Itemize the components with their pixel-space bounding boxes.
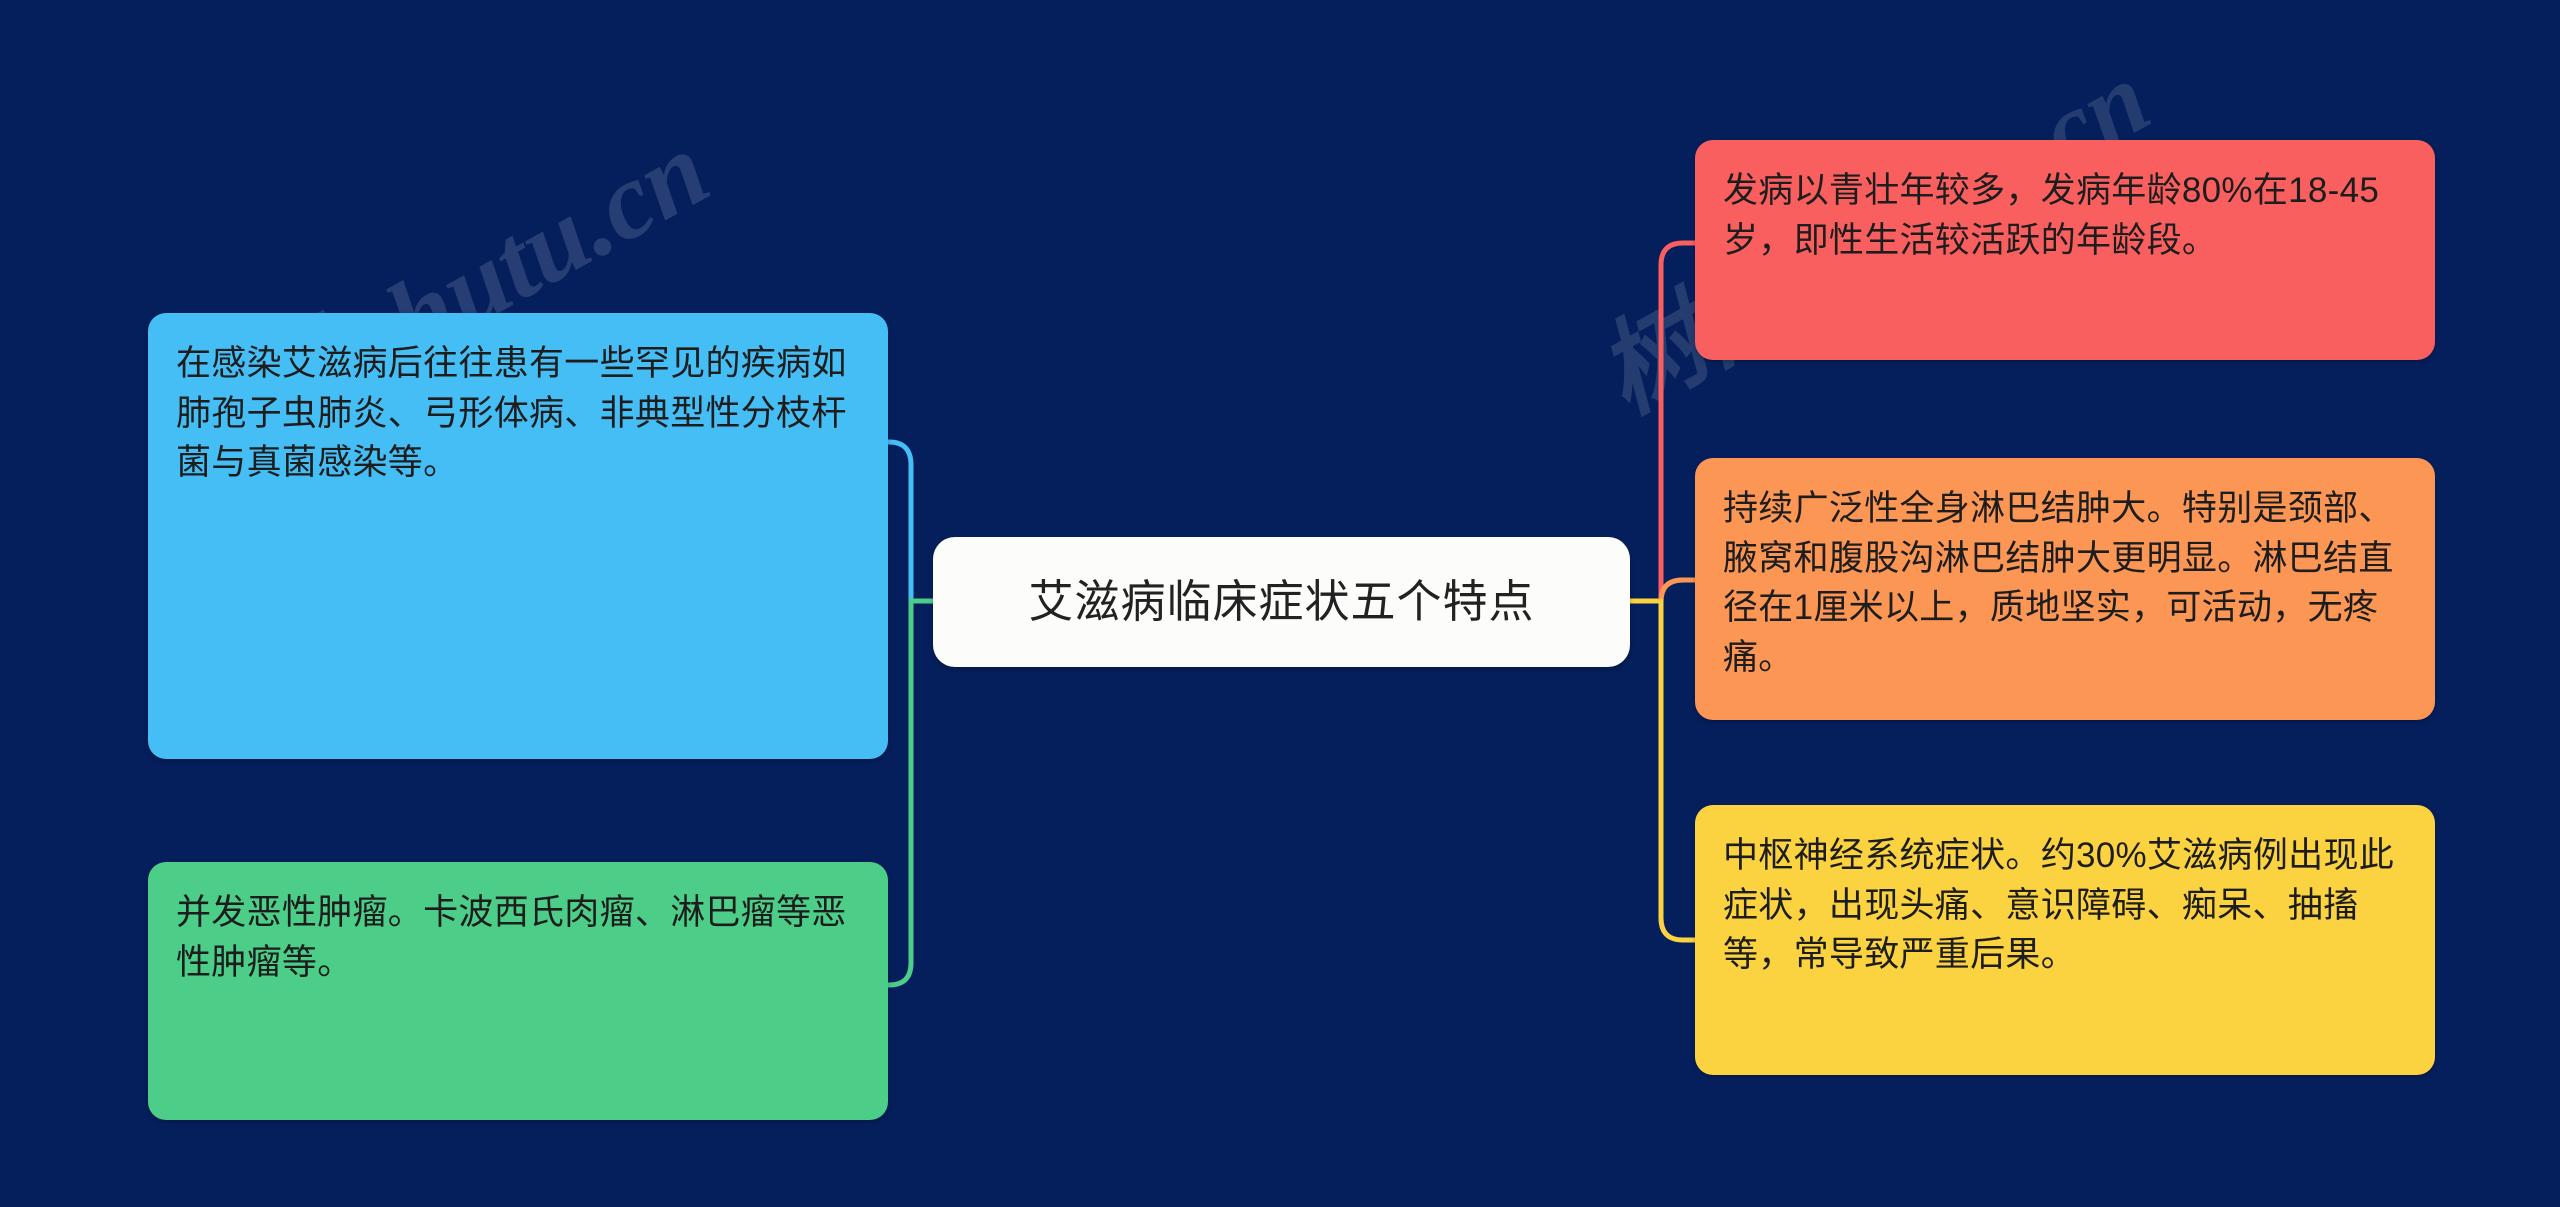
root-node[interactable]: 艾滋病临床症状五个特点 bbox=[933, 537, 1630, 667]
branch-node-yellow-label: 中枢神经系统症状。约30%艾滋病例出现此症状，出现头痛、意识障碍、痴呆、抽搐等，… bbox=[1723, 831, 2405, 980]
mindmap-canvas: 树图 shutu.cn 树图 shutu.cn 在感染艾滋病后往往患有一些罕见的… bbox=[0, 0, 2560, 1207]
branch-node-orange-label: 持续广泛性全身淋巴结肿大。特别是颈部、腋窝和腹股沟淋巴结肿大更明显。淋巴结直径在… bbox=[1723, 484, 2405, 683]
branch-node-green-label: 并发恶性肿瘤。卡波西氏肉瘤、淋巴瘤等恶性肿瘤等。 bbox=[176, 888, 858, 987]
branch-node-red-label: 发病以青壮年较多，发病年龄80%在18-45岁，即性生活较活跃的年龄段。 bbox=[1723, 166, 2405, 265]
connector-yellow bbox=[1661, 601, 1695, 940]
root-node-label: 艾滋病临床症状五个特点 bbox=[1028, 575, 1534, 629]
branch-node-blue[interactable]: 在感染艾滋病后往往患有一些罕见的疾病如肺孢子虫肺炎、弓形体病、非典型性分枝杆菌与… bbox=[148, 313, 888, 759]
connector-orange bbox=[1661, 580, 1695, 601]
connector-red bbox=[1661, 243, 1695, 601]
branch-node-orange[interactable]: 持续广泛性全身淋巴结肿大。特别是颈部、腋窝和腹股沟淋巴结肿大更明显。淋巴结直径在… bbox=[1695, 458, 2435, 720]
branch-node-green[interactable]: 并发恶性肿瘤。卡波西氏肉瘤、淋巴瘤等恶性肿瘤等。 bbox=[148, 862, 888, 1120]
branch-node-yellow[interactable]: 中枢神经系统症状。约30%艾滋病例出现此症状，出现头痛、意识障碍、痴呆、抽搐等，… bbox=[1695, 805, 2435, 1075]
branch-node-blue-label: 在感染艾滋病后往往患有一些罕见的疾病如肺孢子虫肺炎、弓形体病、非典型性分枝杆菌与… bbox=[176, 339, 858, 488]
branch-node-red[interactable]: 发病以青壮年较多，发病年龄80%在18-45岁，即性生活较活跃的年龄段。 bbox=[1695, 140, 2435, 360]
connector-orange-riser bbox=[1661, 580, 1695, 604]
